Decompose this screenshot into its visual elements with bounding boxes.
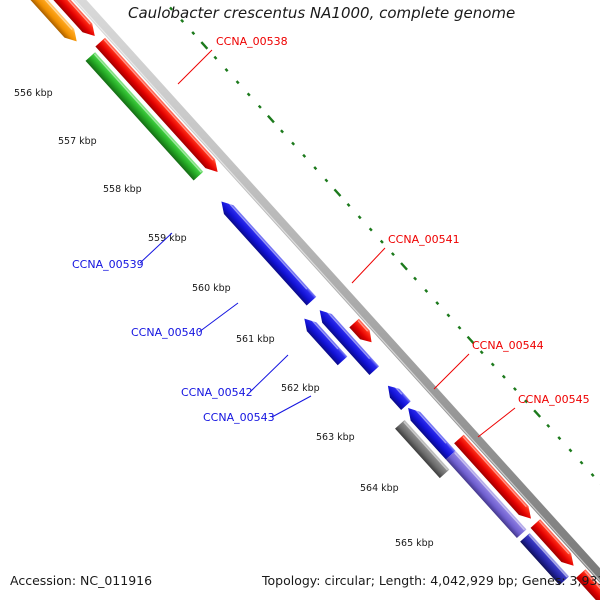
gc-minor-mark bbox=[580, 462, 582, 464]
gene-body[interactable] bbox=[383, 381, 411, 410]
gene-label-leader-line bbox=[178, 50, 212, 84]
gc-minor-mark bbox=[381, 241, 383, 243]
ruler-tick-label: 559 kbp bbox=[148, 233, 187, 244]
gc-minor-mark bbox=[248, 93, 250, 95]
ruler-tick-label: 556 kbp bbox=[14, 88, 53, 99]
gene-label-leader-line bbox=[352, 248, 385, 283]
gc-major-mark bbox=[201, 42, 207, 49]
gene-label-CCNA_00544[interactable]: CCNA_00544 bbox=[472, 339, 544, 352]
gc-minor-mark bbox=[359, 216, 361, 218]
gene-label-CCNA_00540[interactable]: CCNA_00540 bbox=[131, 326, 203, 339]
ruler-tick-label: 561 kbp bbox=[236, 334, 275, 345]
gc-minor-mark bbox=[547, 425, 549, 427]
gc-major-mark bbox=[268, 116, 274, 123]
gc-minor-mark bbox=[492, 363, 494, 365]
gene-label-leader-line bbox=[434, 354, 469, 389]
gc-minor-mark bbox=[458, 327, 460, 329]
gene-highlight bbox=[104, 40, 213, 160]
gc-minor-mark bbox=[237, 81, 239, 83]
gc-minor-mark bbox=[558, 437, 560, 439]
gc-minor-mark bbox=[292, 142, 294, 144]
gc-minor-mark bbox=[281, 130, 283, 132]
gc-minor-mark bbox=[192, 32, 194, 34]
gc-minor-mark bbox=[503, 376, 505, 378]
gene-label-leader-line bbox=[199, 303, 238, 332]
ruler-tick-label: 563 kbp bbox=[316, 432, 355, 443]
gene-label-CCNA_00539[interactable]: CCNA_00539 bbox=[72, 258, 144, 271]
gc-minor-mark bbox=[514, 388, 516, 390]
ruler-tick-label: 562 kbp bbox=[281, 383, 320, 394]
gene-blue-CCNA_00542[interactable] bbox=[383, 381, 411, 410]
gc-minor-mark bbox=[592, 474, 594, 476]
gc-minor-mark bbox=[447, 314, 449, 316]
gc-major-mark bbox=[334, 189, 340, 196]
accession-label: Accession: NC_011916 bbox=[10, 573, 152, 588]
gc-minor-mark bbox=[569, 449, 571, 451]
gc-major-mark bbox=[401, 263, 407, 270]
gene-label-CCNA_00545[interactable]: CCNA_00545 bbox=[518, 393, 590, 406]
gc-minor-mark bbox=[436, 302, 438, 304]
gene-label-leader-line bbox=[272, 396, 311, 417]
gene-feature-track[interactable] bbox=[1, 0, 600, 600]
gc-minor-mark bbox=[370, 228, 372, 230]
page-title: Caulobacter crescentus NA1000, complete … bbox=[128, 4, 515, 22]
ruler-tick-label: 560 kbp bbox=[192, 283, 231, 294]
gc-minor-mark bbox=[225, 69, 227, 71]
gene-label-CCNA_00541[interactable]: CCNA_00541 bbox=[388, 233, 460, 246]
gc-minor-mark bbox=[414, 277, 416, 279]
gene-label-leader-line bbox=[478, 408, 515, 437]
ruler-tick-label: 565 kbp bbox=[395, 538, 434, 549]
ruler-tick-label: 558 kbp bbox=[103, 184, 142, 195]
map-canvas[interactable]: 556 kbp557 kbp558 kbp559 kbp560 kbp561 k… bbox=[0, 0, 600, 600]
gc-minor-mark bbox=[325, 179, 327, 181]
gc-minor-mark bbox=[214, 57, 216, 59]
gc-minor-mark bbox=[425, 290, 427, 292]
genome-summary-label: Topology: circular; Length: 4,042,929 bp… bbox=[261, 573, 600, 588]
genome-map-viewer[interactable]: 556 kbp557 kbp558 kbp559 kbp560 kbp561 k… bbox=[0, 0, 600, 600]
gene-label-CCNA_00543[interactable]: CCNA_00543 bbox=[203, 411, 275, 424]
gc-major-mark bbox=[534, 410, 540, 417]
ruler-tick-label: 557 kbp bbox=[58, 136, 97, 147]
ruler-tick-label: 564 kbp bbox=[360, 483, 399, 494]
gc-minor-mark bbox=[314, 167, 316, 169]
gc-minor-mark bbox=[392, 253, 394, 255]
gc-minor-mark bbox=[259, 106, 261, 108]
gene-label-CCNA_00538[interactable]: CCNA_00538 bbox=[216, 35, 288, 48]
gc-minor-mark bbox=[303, 155, 305, 157]
gene-label-CCNA_00542[interactable]: CCNA_00542 bbox=[181, 386, 253, 399]
gc-minor-mark bbox=[347, 204, 349, 206]
